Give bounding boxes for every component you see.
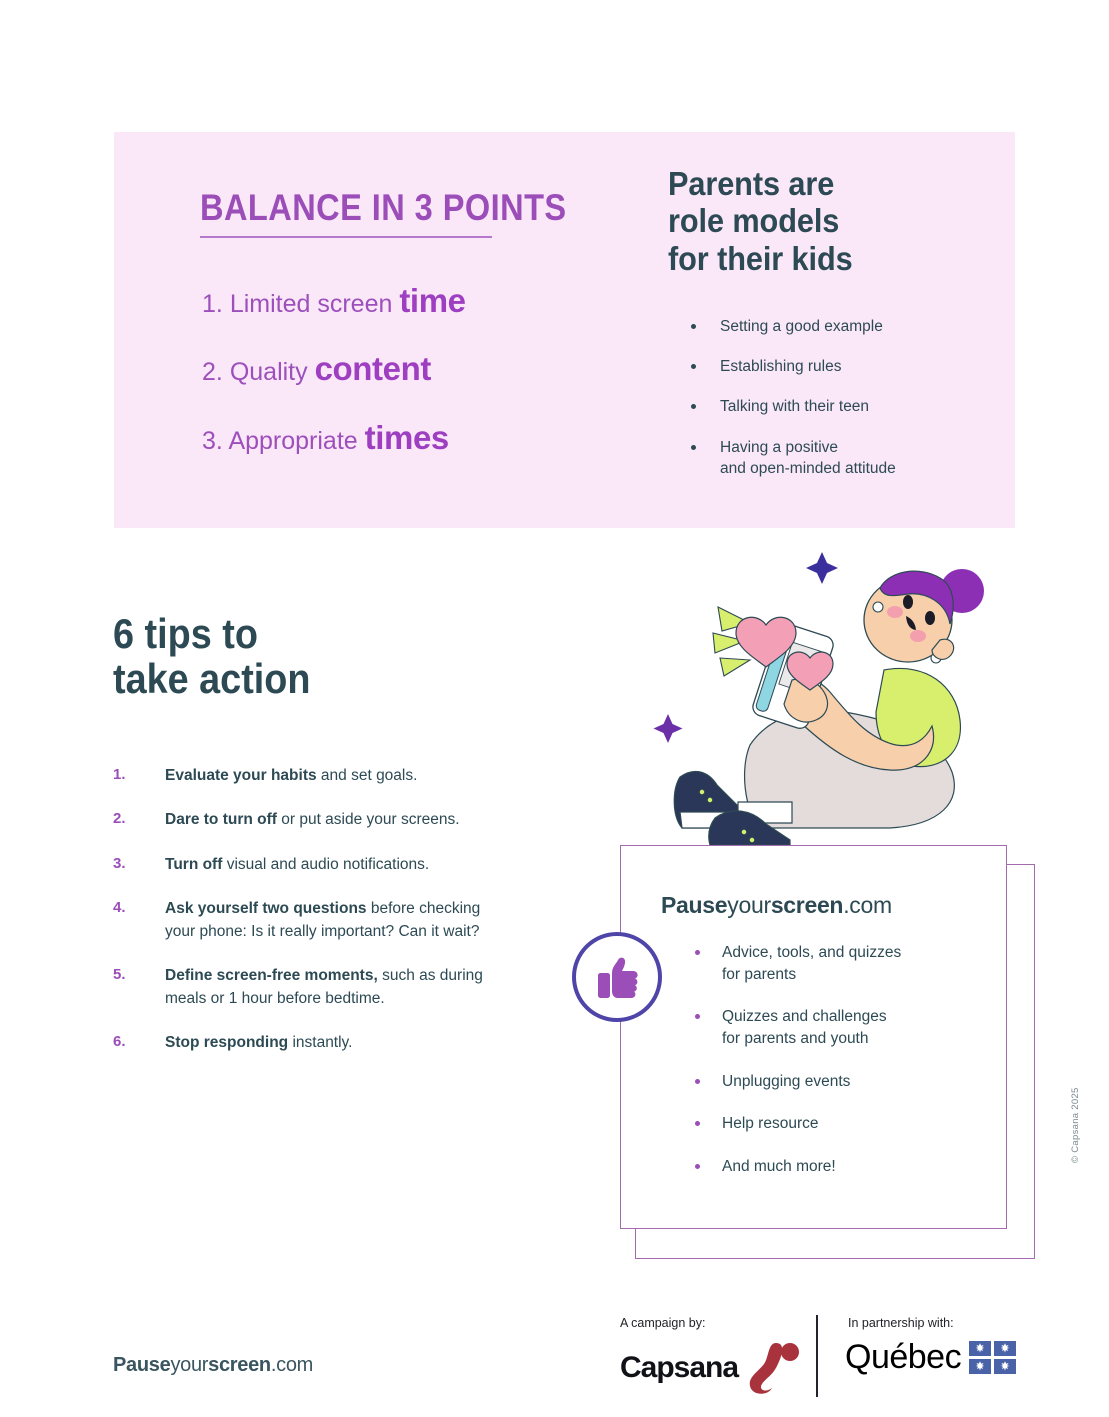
list-item: 4. Ask yourself two questions before che… [113,898,513,943]
list-item: 3. Turn off visual and audio notificatio… [113,854,513,876]
partnership-label: In partnership with: [848,1316,954,1330]
sparkle-icon [806,552,838,584]
balance-item-lead: Appropriate [228,427,357,455]
tip-text: Ask yourself two questions before checki… [165,898,513,943]
footer-logo-bold1: Pause [113,1354,170,1376]
capsana-logo: Capsana [620,1340,800,1396]
tip-number: 6. [113,1032,165,1054]
parents-bullet-list: Setting a good example Establishing rule… [686,316,1016,498]
list-item: Advice, tools, and quizzes for parents [690,942,980,985]
footer-logo-light1: your [170,1354,208,1376]
quebec-wordmark: Québec [845,1338,961,1377]
promo-heading-bold2: screen [771,892,843,918]
tip-text-bold: Turn off [165,856,222,873]
promo-heading-light1: your [727,892,771,918]
tips-heading-line1: 6 tips to [113,611,310,656]
balance-item-strong: times [365,419,449,456]
tip-text: Evaluate your habits and set goals. [165,765,417,787]
list-item: Talking with their teen [686,396,1016,417]
balance-item-lead: Quality [230,358,308,386]
cheek [887,606,903,618]
footer-site-logo[interactable]: Pauseyourscreen.com [113,1354,313,1377]
balance-item-strong: time [399,282,465,319]
list-item: 5. Define screen-free moments, such as d… [113,965,513,1010]
list-item: Help resource [690,1113,980,1135]
fleur-de-lis-icon [969,1359,991,1374]
footer-logo-bold2: screen [208,1354,271,1376]
balance-title-underline [200,236,492,238]
tip-text: Dare to turn off or put aside your scree… [165,809,460,831]
quebec-flag-icons [969,1341,1016,1374]
tip-text: Define screen-free moments, such as duri… [165,965,513,1010]
parents-heading-line2: role models [668,202,853,239]
parents-heading-line1: Parents are [668,165,853,202]
tip-number: 1. [113,765,165,787]
quebec-logo: Québec [845,1338,1016,1377]
tips-heading-line2: take action [113,656,310,701]
tip-text-rest: and set goals. [317,767,418,784]
tips-heading: 6 tips to take action [113,611,310,702]
fleur-de-lis-icon [969,1341,991,1356]
eye [925,611,935,625]
cheek [910,630,926,642]
list-item: Unplugging events [690,1071,980,1093]
list-item: 1. Limited screen time [202,280,672,321]
parents-heading-line3: for their kids [668,240,853,277]
tip-text-rest: or put aside your screens. [277,811,460,828]
list-item: And much more! [690,1156,980,1178]
footer-logo-light2: .com [271,1354,313,1376]
parents-heading: Parents are role models for their kids [668,165,853,277]
list-item: 2. Dare to turn off or put aside your sc… [113,809,513,831]
tip-number: 4. [113,898,165,943]
fleur-de-lis-icon [994,1341,1016,1356]
pink-banner: BALANCE IN 3 POINTS 1. Limited screen ti… [114,132,1015,528]
list-item: Quizzes and challenges for parents and y… [690,1006,980,1049]
sparkle-icon [654,714,683,743]
earring [873,602,883,612]
poster-page: BALANCE IN 3 POINTS 1. Limited screen ti… [0,0,1109,1417]
tip-text-bold: Ask yourself two questions [165,900,367,917]
promo-heading-bold1: Pause [661,892,727,918]
tip-number: 2. [113,809,165,831]
list-item: 6. Stop responding instantly. [113,1032,513,1054]
tip-text-bold: Dare to turn off [165,811,277,828]
balance-list: 1. Limited screen time 2. Quality conten… [202,280,672,485]
capsana-wordmark: Capsana [620,1351,738,1385]
promo-heading-light2: .com [843,892,892,918]
tip-text-bold: Stop responding [165,1034,288,1051]
tip-text: Turn off visual and audio notifications. [165,854,429,876]
campaign-by-label: A campaign by: [620,1316,705,1330]
teen-with-phone-illustration [640,540,1020,880]
list-item: Setting a good example [686,316,1016,337]
tip-text: Stop responding instantly. [165,1032,352,1054]
tip-text-bold: Define screen-free moments, [165,967,378,984]
tip-text-bold: Evaluate your habits [165,767,317,784]
tip-number: 3. [113,854,165,876]
tip-text-rest: visual and audio notifications. [222,856,429,873]
balance-item-number: 1. [202,290,223,318]
thumbs-up-badge [572,932,662,1022]
tip-text-rest: instantly. [288,1034,352,1051]
list-item: Having a positive and open-minded attitu… [686,437,1016,479]
list-item: Establishing rules [686,356,1016,377]
balance-title: BALANCE IN 3 POINTS [200,187,567,229]
balance-item-number: 3. [202,427,223,455]
copyright-text: © Capsana 2025 [1070,1087,1081,1163]
head [864,571,954,663]
promo-box-heading: Pauseyourscreen.com [661,892,892,919]
list-item: 2. Quality content [202,348,672,389]
balance-item-number: 2. [202,358,223,386]
list-item: 3. Appropriate times [202,417,672,458]
thumbs-up-icon [592,952,642,1002]
balance-item-strong: content [315,350,431,387]
capsana-mark-icon [746,1340,800,1396]
tip-number: 5. [113,965,165,1010]
tips-list: 1. Evaluate your habits and set goals. 2… [113,765,513,1077]
balance-item-lead: Limited screen [230,290,393,318]
promo-bullet-list: Advice, tools, and quizzes for parents Q… [690,942,980,1199]
fleur-de-lis-icon [994,1359,1016,1374]
footer-divider [816,1315,818,1397]
list-item: 1. Evaluate your habits and set goals. [113,765,513,787]
eye [903,595,913,609]
